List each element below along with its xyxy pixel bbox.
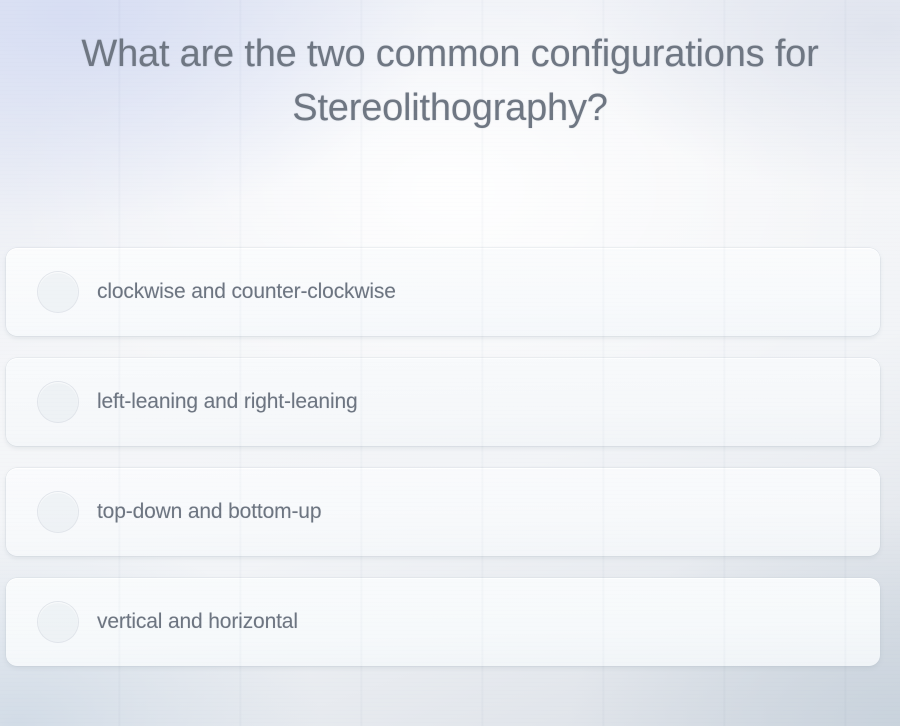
radio-unchecked-icon[interactable]	[38, 492, 78, 532]
answer-option-clockwise-and-counter-clockwise[interactable]: clockwise and counter-clockwise	[6, 248, 880, 336]
answer-option-left-leaning-and-right-leaning[interactable]: left-leaning and right-leaning	[6, 358, 880, 446]
radio-unchecked-icon[interactable]	[38, 382, 78, 422]
options-list: clockwise and counter-clockwise left-lea…	[6, 248, 880, 666]
answer-option-label: top-down and bottom-up	[97, 500, 321, 524]
answer-option-label: clockwise and counter-clockwise	[97, 280, 396, 304]
answer-option-label: left-leaning and right-leaning	[97, 390, 358, 414]
radio-unchecked-icon[interactable]	[38, 272, 78, 312]
question-text: What are the two common configurations f…	[50, 28, 850, 136]
question-block: What are the two common configurations f…	[50, 28, 850, 136]
quiz-screen: What are the two common configurations f…	[0, 0, 900, 726]
answer-option-top-down-and-bottom-up[interactable]: top-down and bottom-up	[6, 468, 880, 556]
answer-option-label: vertical and horizontal	[97, 610, 298, 634]
answer-option-vertical-and-horizontal[interactable]: vertical and horizontal	[6, 578, 880, 666]
radio-unchecked-icon[interactable]	[38, 602, 78, 642]
